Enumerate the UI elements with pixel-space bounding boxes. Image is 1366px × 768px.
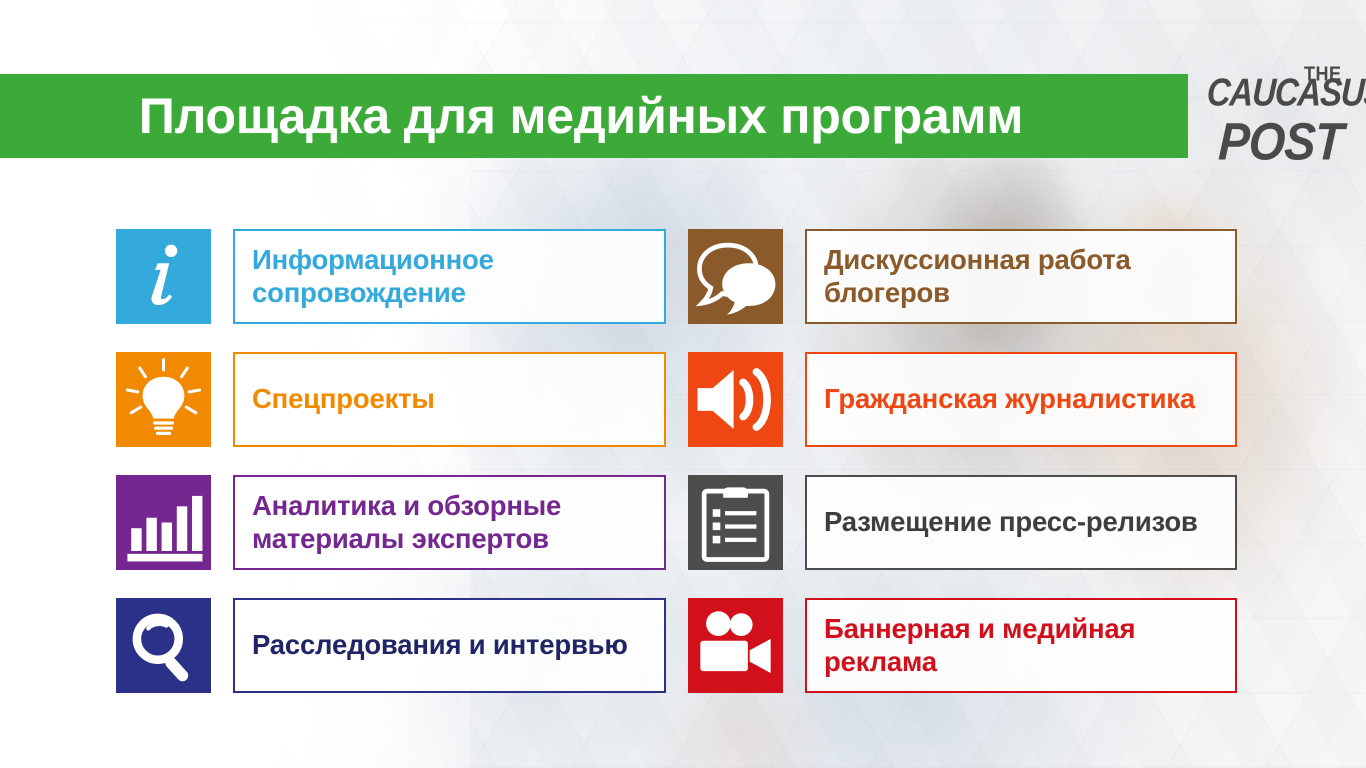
service-card-text-box: Спецпроекты [233,352,666,447]
service-card-bannernaya-i-medijnaya-reklama[interactable]: Баннерная и медийная реклама [688,598,1237,693]
service-card-rassledovaniya-i-intervyu[interactable]: Расследования и интервью [116,598,666,693]
service-card-label: Аналитика и обзорные материалы экспертов [252,490,664,554]
logo-top-row: CAUCASUS THE [1206,66,1356,112]
logo-word-post: POST [1217,110,1344,172]
service-card-grazhdanskaya-zhurnalistika[interactable]: Гражданская журналистика [688,352,1237,447]
service-card-diskussionnaya-rabota-blogerov[interactable]: Дискуссионная работа блогеров [688,229,1237,324]
magnifier-icon [116,598,211,693]
service-card-text-box: Информационное сопровождение [233,229,666,324]
slide-canvas: Площадка для медийных программ CAUCASUS … [0,0,1366,768]
service-card-label: Расследования и интервью [252,629,628,661]
speech-bubbles-icon [688,229,783,324]
clipboard-list-icon [688,475,783,570]
logo-word-the: THE [1304,63,1342,87]
service-card-text-box: Баннерная и медийная реклама [805,598,1237,693]
info-italic-i-icon [116,229,211,324]
lightbulb-icon [116,352,211,447]
bar-chart-icon [116,475,211,570]
page-title: Площадка для медийных программ [139,87,1049,145]
service-card-analitika-i-obzornye-materialy-ekspertov[interactable]: Аналитика и обзорные материалы экспертов [116,475,666,570]
service-card-label: Размещение пресс-релизов [824,506,1198,538]
service-card-text-box: Дискуссионная работа блогеров [805,229,1237,324]
service-card-label: Гражданская журналистика [824,383,1195,415]
service-card-text-box: Размещение пресс-релизов [805,475,1237,570]
service-card-text-box: Гражданская журналистика [805,352,1237,447]
service-card-text-box: Аналитика и обзорные материалы экспертов [233,475,666,570]
service-card-label: Информационное сопровождение [252,244,664,308]
service-card-text-box: Расследования и интервью [233,598,666,693]
service-card-label: Баннерная и медийная реклама [824,613,1235,677]
logo-word-caucasus: CAUCASUS [1206,70,1366,115]
service-card-label: Спецпроекты [252,383,435,415]
video-camera-icon [688,598,783,693]
title-band: Площадка для медийных программ [0,74,1188,158]
the-caucasus-post-logo: CAUCASUS THE POST [1206,66,1356,166]
speaker-icon [688,352,783,447]
service-card-razmeshchenie-press-relizov[interactable]: Размещение пресс-релизов [688,475,1237,570]
service-card-label: Дискуссионная работа блогеров [824,244,1235,308]
service-card-informacionnoe-soprovozhdenie[interactable]: Информационное сопровождение [116,229,666,324]
service-card-specproekty[interactable]: Спецпроекты [116,352,666,447]
